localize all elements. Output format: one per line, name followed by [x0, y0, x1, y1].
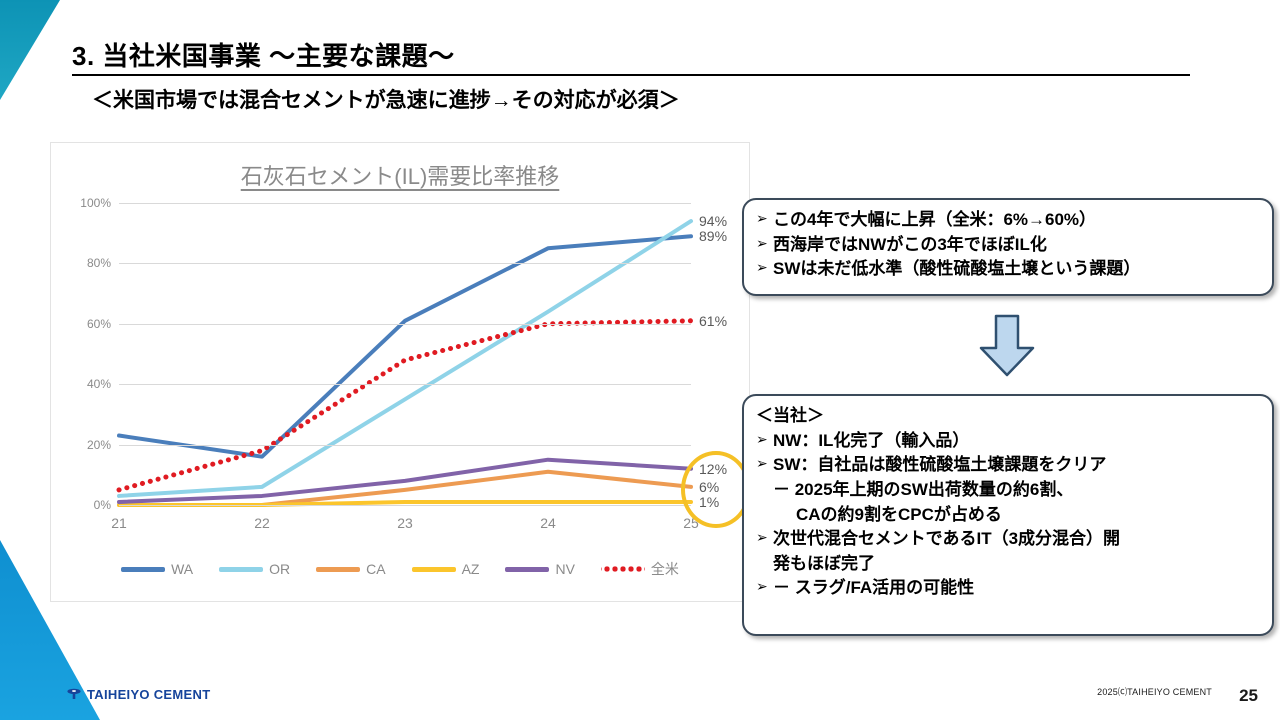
callout-bullet-text: SWは未だ低水準（酸性硫酸塩土壌という課題）: [773, 257, 1140, 282]
chart-y-tick-label: 0%: [94, 498, 111, 512]
bullet-arrow-icon: ➢: [756, 257, 773, 279]
chart-plot-area: 0%20%40%60%80%100%212223242594%89%61%12%…: [119, 203, 691, 505]
title-divider: [72, 74, 1190, 76]
legend-swatch-icon: [601, 566, 645, 572]
callout-bullet: ➢SW：自社品は酸性硫酸塩土壌課題をクリア: [756, 453, 1262, 478]
page-title: 3. 当社米国事業 ～主要な課題～: [72, 36, 455, 73]
callout-bullet: ➢西海岸ではNWがこの3年でほぼIL化: [756, 233, 1262, 258]
bullet-arrow-icon: ➢: [756, 429, 773, 451]
chart-gridline: [119, 324, 691, 325]
callout-bullet: ➢SWは未だ低水準（酸性硫酸塩土壌という課題）: [756, 257, 1262, 282]
chart-panel: 石灰石セメント(IL)需要比率推移 0%20%40%60%80%100%2122…: [50, 142, 750, 602]
callout-subline: － 2025年上期のSW出荷数量の約6割、: [756, 478, 1262, 503]
annotation-ellipse: [681, 451, 751, 528]
legend-item-全米[interactable]: 全米: [601, 559, 679, 579]
chart-series-WA: [119, 236, 691, 456]
legend-swatch-icon: [316, 567, 360, 572]
logo-text: TAIHEIYO CEMENT: [87, 687, 210, 702]
copyright-notice: 2025⒞TAIHEIYO CEMENT: [1097, 685, 1212, 698]
legend-label: 全米: [651, 559, 679, 579]
legend-label: CA: [366, 561, 385, 577]
callout-company-actions: ＜当社＞➢NW：IL化完了（輸入品）➢SW：自社品は酸性硫酸塩土壌課題をクリア－…: [742, 394, 1274, 636]
legend-item-CA[interactable]: CA: [316, 561, 385, 577]
chart-legend: WAORCAAZNV全米: [51, 559, 749, 579]
callout-bullet-text: 西海岸ではNWがこの3年でほぼIL化: [773, 233, 1047, 258]
callout-bullet-text: NW：IL化完了（輸入品）: [773, 429, 969, 454]
legend-label: AZ: [462, 561, 480, 577]
chart-x-tick-label: 23: [397, 515, 413, 531]
callout-bullet: ➢この4年で大幅に上昇（全米：6%→60%）: [756, 208, 1262, 233]
callout-bullet-text: この4年で大幅に上昇（全米：6%→60%）: [773, 208, 1096, 233]
bullet-arrow-icon: ➢: [756, 576, 773, 598]
legend-item-NV[interactable]: NV: [505, 561, 574, 577]
legend-label: NV: [555, 561, 574, 577]
bullet-arrow-icon: ➢: [756, 527, 773, 549]
legend-swatch-icon: [219, 567, 263, 572]
chart-y-tick-label: 40%: [87, 377, 111, 391]
page-subtitle: ＜米国市場では混合セメントが急速に進捗→その対応が必須＞: [92, 84, 680, 114]
legend-label: WA: [171, 561, 193, 577]
legend-item-OR[interactable]: OR: [219, 561, 290, 577]
chart-y-tick-label: 20%: [87, 438, 111, 452]
callout-bullet-text: 次世代混合セメントであるIT（3成分混合）開: [773, 527, 1120, 552]
chart-series-svg: [119, 203, 691, 505]
chart-y-tick-label: 80%: [87, 256, 111, 270]
callout-bullet-text: － スラグ/FA活用の可能性: [773, 576, 974, 601]
down-arrow-icon: [976, 314, 1038, 378]
bullet-arrow-icon: ➢: [756, 233, 773, 255]
chart-gridline: [119, 203, 691, 204]
bullet-arrow-icon: ➢: [756, 453, 773, 475]
callout-market-summary: ➢この4年で大幅に上昇（全米：6%→60%）➢西海岸ではNWがこの3年でほぼIL…: [742, 198, 1274, 296]
legend-item-AZ[interactable]: AZ: [412, 561, 480, 577]
chart-gridline: [119, 384, 691, 385]
chart-y-tick-label: 100%: [80, 196, 111, 210]
callout-bullet: ➢－ スラグ/FA活用の可能性: [756, 576, 1262, 601]
legend-item-WA[interactable]: WA: [121, 561, 193, 577]
callout-bullet-text: SW：自社品は酸性硫酸塩土壌課題をクリア: [773, 453, 1106, 478]
chart-gridline: [119, 263, 691, 264]
chart-gridline: [119, 445, 691, 446]
callout-subline: 発もほぼ完了: [756, 552, 1262, 577]
chart-x-tick-label: 24: [540, 515, 556, 531]
legend-label: OR: [269, 561, 290, 577]
callout-heading: ＜当社＞: [756, 404, 1262, 429]
chart-end-label: 94%: [699, 213, 727, 229]
chart-y-tick-label: 60%: [87, 317, 111, 331]
callout-bullet: ➢次世代混合セメントであるIT（3成分混合）開: [756, 527, 1262, 552]
chart-x-tick-label: 21: [111, 515, 127, 531]
chart-series-OR: [119, 221, 691, 496]
chart-x-tick-label: 22: [254, 515, 270, 531]
chart-gridline: [119, 505, 691, 506]
company-logo: TAIHEIYO CEMENT: [66, 686, 210, 702]
page-number: 25: [1239, 686, 1258, 706]
chart-end-label: 61%: [699, 313, 727, 329]
taiheiyo-mark-icon: [66, 686, 82, 702]
top-left-accent-wedge: [0, 0, 60, 100]
legend-swatch-icon: [505, 567, 549, 572]
chart-title: 石灰石セメント(IL)需要比率推移: [51, 159, 749, 191]
legend-swatch-icon: [412, 567, 456, 572]
callout-subline: CAの約9割をCPCが占める: [756, 503, 1262, 528]
callout-bullet: ➢NW：IL化完了（輸入品）: [756, 429, 1262, 454]
bullet-arrow-icon: ➢: [756, 208, 773, 230]
chart-end-label: 89%: [699, 228, 727, 244]
legend-swatch-icon: [121, 567, 165, 572]
